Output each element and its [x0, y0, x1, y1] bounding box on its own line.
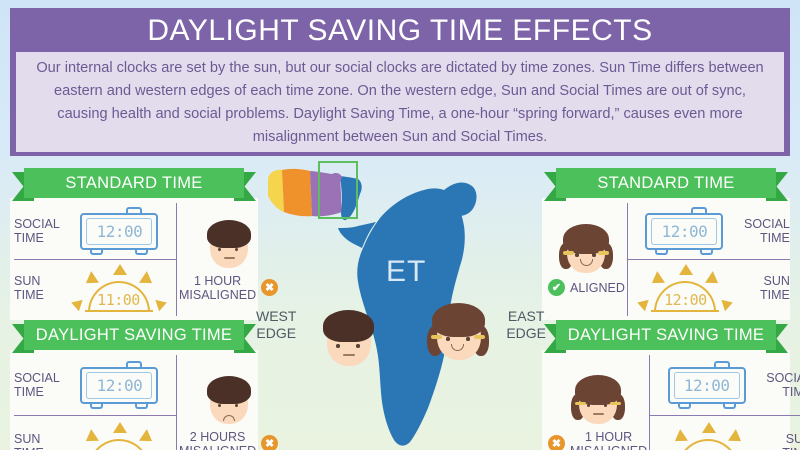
status-badge: ✔ ALIGNED	[548, 279, 625, 296]
ribbon-west-dst: DAYLIGHT SAVING TIME	[12, 320, 256, 350]
status-badge: ✖ 1 HOURMISALIGNED	[548, 430, 647, 450]
sun-clock-icon: 10:00	[61, 422, 176, 450]
status-text: ALIGNED	[570, 281, 625, 295]
clocks-column: 12:00 SOCIALTIME 12:	[628, 203, 790, 316]
status-column: ✖ 1 HOURMISALIGNED	[546, 355, 650, 450]
sun-ray-upper-right-icon	[139, 271, 156, 289]
sun-time-row: 11:00 SUNTIME	[650, 415, 800, 450]
sun-time-row: SUNTIME 10:00	[14, 415, 176, 450]
sun-ray-up-icon	[113, 264, 127, 275]
avatar-girl-neutral	[570, 374, 626, 428]
social-time-label: SOCIALTIME	[766, 371, 800, 399]
header-banner: DAYLIGHT SAVING TIME EFFECTS Our interna…	[10, 8, 790, 156]
ribbon-band: DAYLIGHT SAVING TIME	[556, 320, 776, 350]
avatar-girl-smile	[558, 223, 614, 277]
ribbon-band: DAYLIGHT SAVING TIME	[24, 320, 244, 350]
ribbon-band: STANDARD TIME	[24, 168, 244, 198]
map-avatar-boy	[316, 308, 380, 370]
sun-time-label: SUNTIME	[746, 274, 790, 302]
social-time-label: SOCIALTIME	[744, 217, 790, 245]
status-text: 1 HOURMISALIGNED	[570, 430, 647, 450]
panel-west-daylight-saving-time: DAYLIGHT SAVING TIME SOCIALTIME 12:00	[10, 320, 258, 450]
panel-body: SOCIALTIME 12:00 S	[10, 198, 258, 320]
social-time-value: 12:00	[662, 222, 708, 241]
ribbon-label: STANDARD TIME	[597, 174, 734, 193]
misaligned-x-icon: ✖	[548, 435, 565, 450]
panel-east-daylight-saving-time: DAYLIGHT SAVING TIME ✖ 1 HOURMISALIGNED	[542, 320, 790, 450]
sun-clock-icon: 11:00	[61, 264, 176, 312]
page-title: DAYLIGHT SAVING TIME EFFECTS	[16, 12, 784, 50]
sun-clock-icon: 12:00	[628, 264, 743, 312]
status-column: ✔ ALIGNED	[546, 203, 628, 316]
map-area: ET WESTEDGE EASTEDGE	[258, 160, 544, 450]
sun-time-row: SUNTIME 11:00	[14, 259, 176, 316]
panel-body: SOCIALTIME 12:00 SUNTIME	[10, 350, 258, 450]
social-time-row: 12:00 SOCIALTIME	[628, 203, 790, 259]
alarm-foot-right	[135, 249, 148, 255]
ribbon-east-dst: DAYLIGHT SAVING TIME	[544, 320, 788, 350]
clocks-column: SOCIALTIME 12:00 SUNTIME	[14, 355, 176, 450]
sun-clock-icon: 11:00	[650, 422, 765, 450]
social-time-row: SOCIALTIME 12:00	[14, 203, 176, 259]
alarm-clock-icon: 12:00	[63, 361, 176, 409]
alarm-foot-left	[90, 249, 103, 255]
ribbon-east-standard: STANDARD TIME	[544, 168, 788, 198]
social-time-value: 12:00	[97, 222, 143, 241]
panel-east-standard-time: STANDARD TIME ✔ ALIGNED	[542, 168, 790, 320]
social-time-label: SOCIALTIME	[14, 217, 60, 245]
infographic-root: DAYLIGHT SAVING TIME EFFECTS Our interna…	[0, 0, 800, 450]
zone-label: ET	[386, 255, 426, 289]
header-description: Our internal clocks are set by the sun, …	[28, 57, 772, 149]
sun-time-value: 11:00	[71, 291, 167, 309]
social-time-value: 12:00	[97, 376, 143, 395]
panel-west-standard-time: STANDARD TIME SOCIALTIME 12:00	[10, 168, 258, 320]
ribbon-band: STANDARD TIME	[556, 168, 776, 198]
social-time-row: SOCIALTIME 12:00	[14, 355, 176, 415]
social-time-value: 12:00	[684, 376, 730, 395]
sun-time-label: SUNTIME	[768, 432, 800, 450]
ribbon-label: DAYLIGHT SAVING TIME	[568, 326, 764, 345]
aligned-check-icon: ✔	[548, 279, 565, 296]
zone-pacific	[268, 170, 284, 212]
header-description-box: Our internal clocks are set by the sun, …	[16, 52, 784, 152]
zone-mountain	[282, 169, 312, 216]
hair-icon	[563, 224, 609, 254]
status-text: 1 HOURMISALIGNED	[179, 274, 256, 302]
west-edge-label: WESTEDGE	[256, 308, 296, 342]
sun-time-label: SUNTIME	[14, 432, 58, 450]
sun-ray-upper-left-icon	[82, 271, 99, 289]
avatar-boy-neutral	[201, 218, 257, 272]
hair-icon	[575, 375, 621, 405]
clocks-column: SOCIALTIME 12:00 S	[14, 203, 176, 316]
panel-body: ✔ ALIGNED 12:00	[542, 198, 790, 320]
sun-time-value: 12:00	[637, 291, 733, 309]
alarm-clock-icon: 12:00	[650, 361, 763, 409]
sun-time-label: SUNTIME	[14, 274, 58, 302]
ribbon-label: STANDARD TIME	[65, 174, 202, 193]
ribbon-west-standard: STANDARD TIME	[12, 168, 256, 198]
social-time-label: SOCIALTIME	[14, 371, 60, 399]
alarm-clock-icon: 12:00	[63, 207, 176, 255]
eastern-zone-highlight-box	[318, 161, 358, 219]
social-time-row: 12:00 SOCIALTIME	[650, 355, 800, 415]
sun-time-row: 12:00 SUNTIME	[628, 259, 790, 316]
avatar-boy-frown	[201, 374, 257, 428]
panel-body: ✖ 1 HOURMISALIGNED 12:00	[542, 350, 790, 450]
clocks-column: 12:00 SOCIALTIME 11:	[650, 355, 800, 450]
alarm-screen: 12:00	[86, 218, 152, 245]
sun-base	[85, 310, 153, 312]
east-edge-label: EASTEDGE	[506, 308, 546, 342]
alarm-clock-icon: 12:00	[628, 207, 741, 255]
ribbon-label: DAYLIGHT SAVING TIME	[36, 326, 232, 345]
status-text: 2 HOURSMISALIGNED	[179, 430, 256, 450]
map-avatar-girl	[426, 302, 490, 364]
